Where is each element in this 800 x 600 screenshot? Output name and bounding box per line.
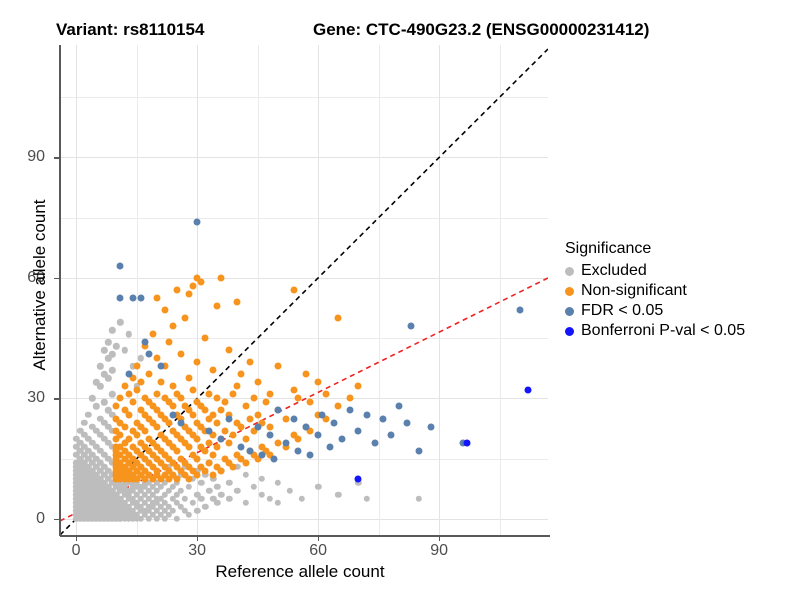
data-point <box>238 371 245 378</box>
data-point <box>137 295 144 302</box>
plot-panel <box>60 45 548 535</box>
data-point <box>254 411 261 418</box>
data-point <box>254 379 261 386</box>
legend-color-swatch <box>565 307 574 316</box>
data-point <box>226 415 233 422</box>
legend-item-label: Bonferroni P-val < 0.05 <box>581 322 745 340</box>
data-point <box>210 471 217 478</box>
legend-color-swatch <box>565 327 574 336</box>
y-tick <box>54 519 59 520</box>
legend-item[interactable]: Non-significant <box>565 281 745 301</box>
data-point <box>113 403 120 410</box>
data-point <box>218 407 225 414</box>
data-point <box>153 467 160 474</box>
legend-item[interactable]: Bonferroni P-val < 0.05 <box>565 321 745 341</box>
data-point <box>323 391 330 398</box>
data-point <box>282 415 289 422</box>
y-tick <box>54 398 59 399</box>
data-point <box>226 439 233 446</box>
data-point <box>307 451 314 458</box>
y-tick <box>54 157 59 158</box>
data-point <box>149 331 156 338</box>
data-point <box>303 371 310 378</box>
x-axis-line <box>60 535 550 537</box>
data-point <box>182 315 189 322</box>
data-point <box>177 351 184 358</box>
data-point <box>395 403 402 410</box>
data-point <box>387 431 394 438</box>
data-point <box>125 371 132 378</box>
data-point <box>129 399 136 406</box>
data-point <box>290 415 297 422</box>
data-point <box>222 399 229 406</box>
data-point <box>355 427 362 434</box>
gene-title: Gene: CTC-490G23.2 (ENSG00000231412) <box>313 20 649 40</box>
data-point <box>339 435 346 442</box>
data-point <box>141 339 148 346</box>
data-point <box>190 387 197 394</box>
data-point <box>290 387 297 394</box>
legend-color-swatch <box>565 267 574 276</box>
data-point <box>214 395 221 402</box>
data-point <box>230 431 237 438</box>
data-point <box>246 415 253 422</box>
x-tick <box>197 536 198 541</box>
data-point <box>214 303 221 310</box>
data-point <box>186 443 193 450</box>
data-point <box>335 403 342 410</box>
data-point <box>169 323 176 330</box>
legend-item[interactable]: FDR < 0.05 <box>565 301 745 321</box>
x-tick-label: 0 <box>72 542 81 560</box>
data-point <box>218 435 225 442</box>
data-point <box>294 395 301 402</box>
data-point <box>202 447 209 454</box>
data-point <box>186 475 193 482</box>
data-point <box>202 467 209 474</box>
data-point <box>165 419 172 426</box>
data-point <box>157 379 164 386</box>
data-point <box>125 391 132 398</box>
data-point <box>242 459 249 466</box>
data-point <box>194 359 201 366</box>
x-tick-label: 60 <box>309 542 327 560</box>
data-point <box>145 371 152 378</box>
data-point <box>327 443 334 450</box>
data-point <box>242 435 249 442</box>
legend-color-swatch <box>565 287 574 296</box>
data-point <box>121 423 128 430</box>
data-point <box>117 395 124 402</box>
data-point <box>177 395 184 402</box>
data-point <box>117 295 124 302</box>
data-point <box>133 363 140 370</box>
data-point <box>315 431 322 438</box>
data-point <box>210 367 217 374</box>
data-point <box>133 387 140 394</box>
data-point <box>222 427 229 434</box>
data-point <box>355 475 362 482</box>
data-point <box>129 295 136 302</box>
data-point <box>464 439 471 446</box>
data-point <box>274 439 281 446</box>
data-point <box>246 447 253 454</box>
data-point <box>169 403 176 410</box>
data-point <box>161 307 168 314</box>
data-point <box>294 435 301 442</box>
legend-item-label: Non-significant <box>581 282 687 300</box>
data-point <box>206 459 213 466</box>
data-point <box>226 347 233 354</box>
data-point <box>141 427 148 434</box>
data-point <box>230 391 237 398</box>
data-point <box>177 419 184 426</box>
legend-title: Significance <box>565 240 745 258</box>
data-point <box>266 423 273 430</box>
data-point <box>250 395 257 402</box>
legend-item[interactable]: Excluded <box>565 261 745 281</box>
legend-item-label: Excluded <box>581 262 647 280</box>
data-point <box>319 411 326 418</box>
data-point <box>121 383 128 390</box>
data-point <box>307 399 314 406</box>
data-point <box>137 379 144 386</box>
data-point <box>218 467 225 474</box>
data-point <box>262 399 269 406</box>
data-point <box>234 299 241 306</box>
data-point <box>186 375 193 382</box>
data-point <box>117 262 124 269</box>
data-point <box>407 323 414 330</box>
data-point <box>186 291 193 298</box>
data-point <box>125 411 132 418</box>
data-point <box>274 363 281 370</box>
data-point <box>206 427 213 434</box>
data-point <box>173 287 180 294</box>
y-tick-label: 0 <box>0 510 45 528</box>
x-axis-label: Reference allele count <box>0 562 600 582</box>
data-point <box>246 359 253 366</box>
data-point <box>415 447 422 454</box>
x-tick-label: 30 <box>188 542 206 560</box>
data-point <box>238 443 245 450</box>
legend: Significance ExcludedNon-significantFDR … <box>565 240 745 341</box>
data-point <box>190 282 197 289</box>
data-point <box>194 455 201 462</box>
data-point <box>125 435 132 442</box>
data-point <box>210 411 217 418</box>
data-point <box>363 411 370 418</box>
data-point <box>153 355 160 362</box>
data-point <box>258 451 265 458</box>
data-point <box>173 447 180 454</box>
data-point <box>524 387 531 394</box>
data-point <box>254 423 261 430</box>
y-axis-line <box>59 45 61 536</box>
data-point <box>190 411 197 418</box>
data-point <box>214 443 221 450</box>
data-point <box>266 431 273 438</box>
x-tick-label: 90 <box>430 542 448 560</box>
data-point <box>157 363 164 370</box>
data-point <box>270 455 277 462</box>
scatter-plot-figure: Variant: rs8110154 Gene: CTC-490G23.2 (E… <box>0 0 800 600</box>
data-point <box>145 351 152 358</box>
data-point <box>315 379 322 386</box>
data-point <box>206 391 213 398</box>
y-axis-label: Alternative allele count <box>30 65 50 505</box>
data-point <box>347 395 354 402</box>
x-tick <box>439 536 440 541</box>
data-point <box>355 383 362 390</box>
data-point <box>198 278 205 285</box>
data-point <box>153 295 160 302</box>
data-point <box>234 383 241 390</box>
data-point <box>379 415 386 422</box>
legend-item-label: FDR < 0.05 <box>581 302 663 320</box>
y-tick <box>54 278 59 279</box>
x-tick <box>76 536 77 541</box>
data-point <box>516 307 523 314</box>
data-point <box>202 407 209 414</box>
data-point <box>347 407 354 414</box>
data-point <box>202 335 209 342</box>
data-point <box>194 471 201 478</box>
data-point <box>242 403 249 410</box>
data-point <box>153 423 160 430</box>
data-point <box>194 218 201 225</box>
data-point <box>371 439 378 446</box>
data-point <box>238 423 245 430</box>
data-point <box>266 391 273 398</box>
data-point <box>194 435 201 442</box>
data-point <box>282 439 289 446</box>
data-point <box>294 447 301 454</box>
data-point <box>173 475 180 482</box>
data-point <box>117 431 124 438</box>
data-point <box>218 274 225 281</box>
data-point <box>133 431 140 438</box>
data-point <box>214 419 221 426</box>
data-point <box>335 315 342 322</box>
data-point <box>169 411 176 418</box>
data-point <box>428 423 435 430</box>
legend-items: ExcludedNon-significantFDR < 0.05Bonferr… <box>565 261 745 341</box>
data-point <box>290 287 297 294</box>
x-tick <box>318 536 319 541</box>
data-point <box>403 419 410 426</box>
data-point <box>169 383 176 390</box>
data-point <box>206 439 213 446</box>
data-point <box>303 423 310 430</box>
data-point <box>210 451 217 458</box>
data-point <box>165 339 172 346</box>
data-point <box>274 407 281 414</box>
data-point <box>153 391 160 398</box>
variant-title: Variant: rs8110154 <box>56 20 204 40</box>
data-point <box>230 463 237 470</box>
data-point <box>331 419 338 426</box>
